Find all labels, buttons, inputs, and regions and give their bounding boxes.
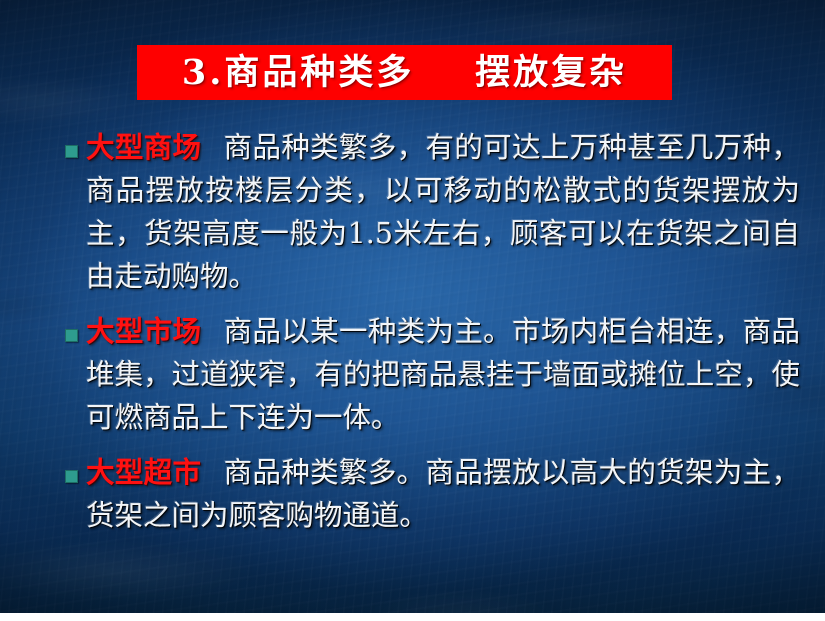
bullet-paragraph: 大型超市商品种类繁多。商品摆放以高大的货架为主，货架之间为顾客购物通道。 [86,451,800,537]
bullet-item: 大型超市商品种类繁多。商品摆放以高大的货架为主，货架之间为顾客购物通道。 [60,451,800,537]
bullet-emphasis-term: 大型市场 [86,314,201,348]
presentation-slide: 3.商品种类多 摆放复杂 大型商场商品种类繁多，有的可达上万种甚至几万种，商品摆… [0,0,825,621]
square-bullet-icon [65,329,78,342]
bullet-item: 大型商场商品种类繁多，有的可达上万种甚至几万种，商品摆放按楼层分类，以可移动的松… [60,126,800,298]
title-banner: 3.商品种类多 摆放复杂 [137,45,672,100]
bullet-emphasis-term: 大型商场 [86,130,201,164]
bullet-paragraph: 大型商场商品种类繁多，有的可达上万种甚至几万种，商品摆放按楼层分类，以可移动的松… [86,126,800,298]
bullet-item: 大型市场商品以某一种类为主。市场内柜台相连，商品堆集，过道狭窄，有的把商品悬挂于… [60,310,800,439]
square-bullet-icon [65,145,78,158]
slide-body: 大型商场商品种类繁多，有的可达上万种甚至几万种，商品摆放按楼层分类，以可移动的松… [60,126,800,549]
bullet-paragraph: 大型市场商品以某一种类为主。市场内柜台相连，商品堆集，过道狭窄，有的把商品悬挂于… [86,310,800,439]
page-bottom-margin [0,613,825,621]
slide-title: 3.商品种类多 摆放复杂 [182,55,627,90]
square-bullet-icon [65,470,78,483]
bullet-emphasis-term: 大型超市 [86,455,201,489]
